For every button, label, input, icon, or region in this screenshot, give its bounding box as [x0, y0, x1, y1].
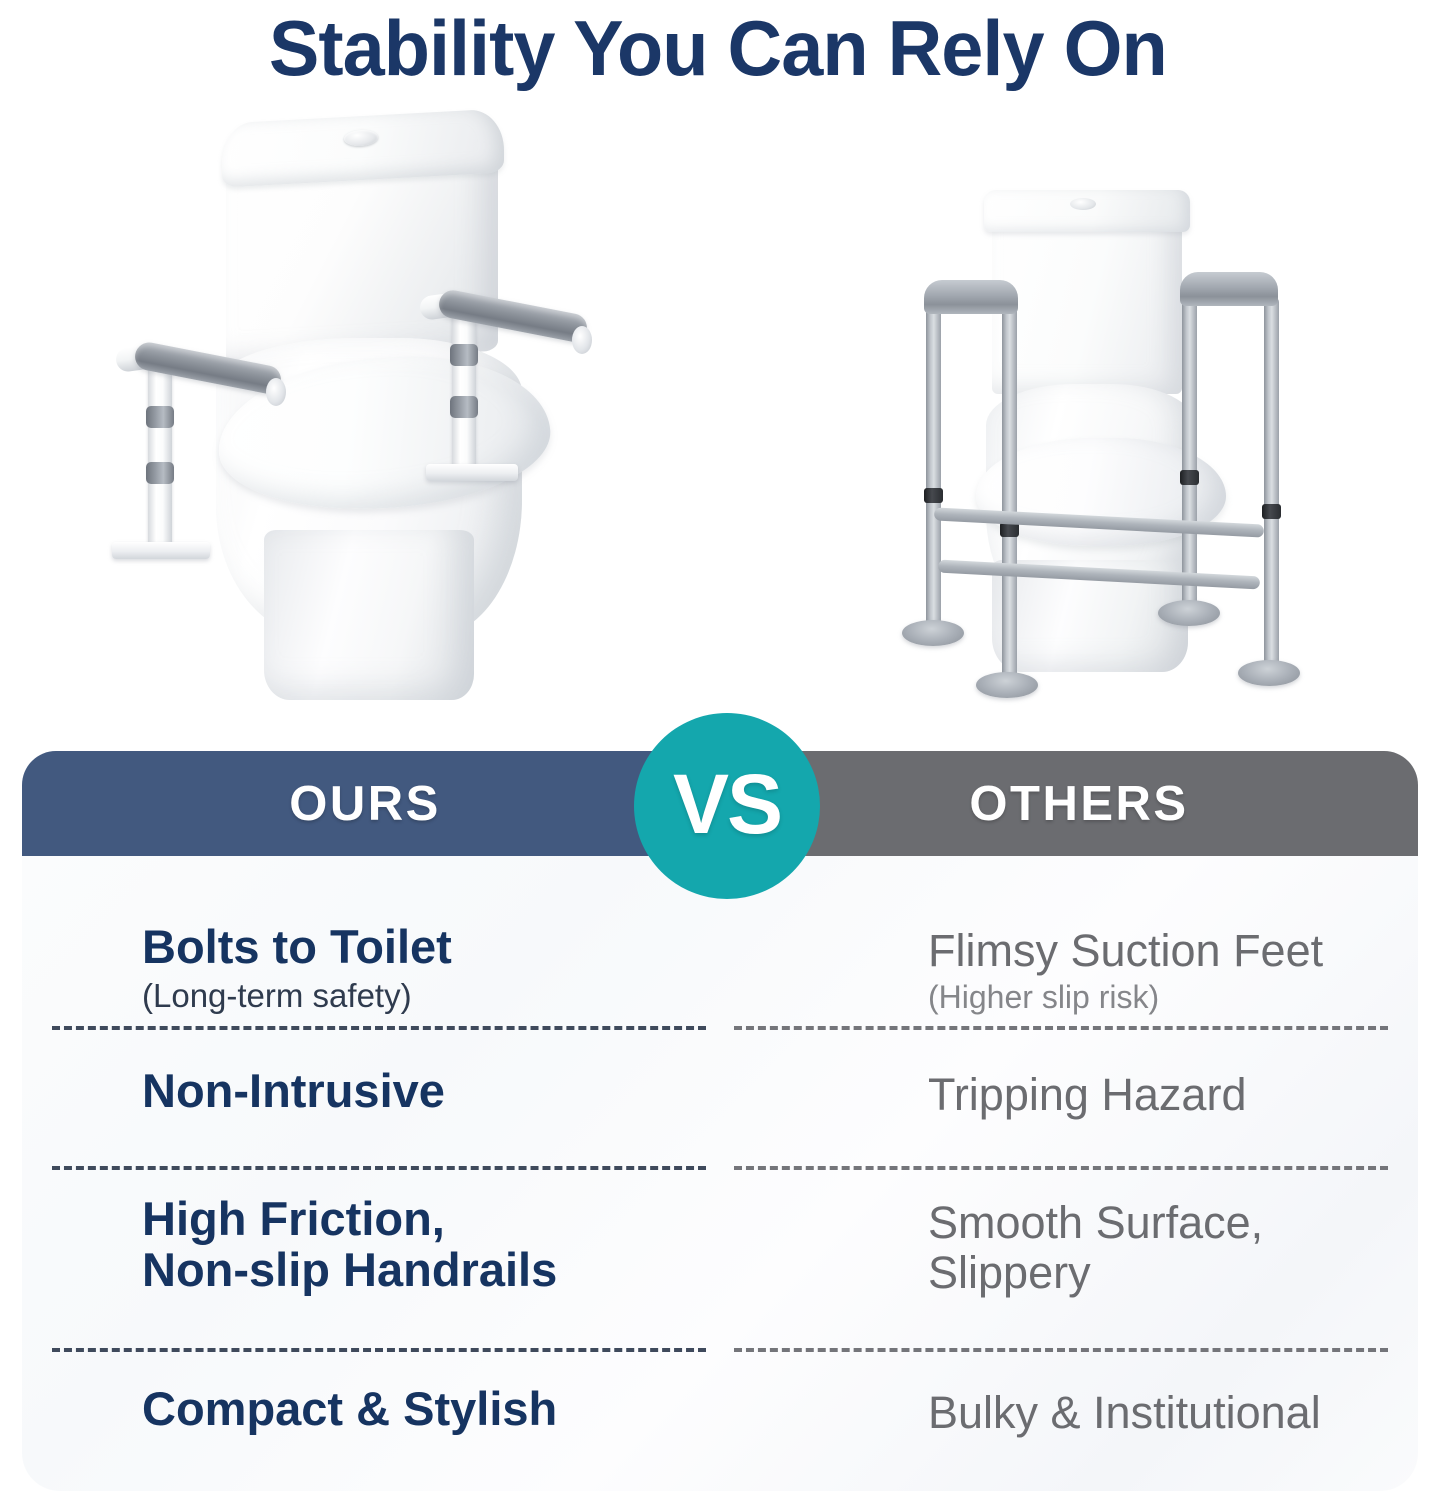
comparison-body: Bolts to Toilet (Long-term safety) Flims… [22, 856, 1418, 1491]
ours-product-image [96, 110, 636, 740]
competitor-toilet-tank-lid [984, 190, 1190, 232]
row-3-others-cell: Smooth Surface, Slippery [720, 1166, 1418, 1348]
ours-header: OURS [22, 751, 720, 856]
frame-leg [1002, 306, 1017, 682]
rail-collar [146, 406, 174, 428]
rail-handle-cap [266, 378, 286, 406]
comparison-row: Non-Intrusive Tripping Hazard [22, 1026, 1418, 1166]
product-image-stage [0, 96, 1436, 751]
row-2-ours-label: Non-Intrusive [142, 1066, 445, 1117]
row-1-ours-sublabel: (Long-term safety) [142, 977, 452, 1015]
rail-post [452, 308, 476, 470]
row-3-others-label-line2: Slippery [928, 1248, 1263, 1298]
row-3-ours-label: High Friction, [142, 1194, 557, 1245]
row-4-ours-label: Compact & Stylish [142, 1384, 557, 1435]
comparison-row: Compact & Stylish Bulky & Institutional [22, 1348, 1418, 1468]
rail-collar [450, 344, 478, 366]
frame-armrest-right [1180, 272, 1278, 306]
row-3-ours-label-line2: Non-slip Handrails [142, 1245, 557, 1296]
row-1-others-cell: Flimsy Suction Feet (Higher slip risk) [720, 856, 1418, 1026]
competitor-flush-button-icon [1070, 198, 1096, 210]
rail-post [148, 362, 172, 548]
frame-leg [926, 298, 941, 628]
row-3-ours-cell: High Friction, Non-slip Handrails [22, 1166, 720, 1348]
frame-clamp-band [924, 488, 943, 503]
row-2-others-cell: Tripping Hazard [720, 1026, 1418, 1166]
rail-base-plate [426, 464, 518, 481]
row-4-others-cell: Bulky & Institutional [720, 1348, 1418, 1468]
row-2-ours-cell: Non-Intrusive [22, 1026, 720, 1166]
comparison-row: High Friction, Non-slip Handrails Smooth… [22, 1166, 1418, 1348]
rail-collar [450, 396, 478, 418]
rail-collar [146, 462, 174, 484]
frame-suction-foot [1158, 600, 1220, 626]
page-title-bar: Stability You Can Rely On [0, 0, 1436, 96]
frame-clamp-band [1262, 504, 1281, 519]
frame-suction-foot [976, 672, 1038, 698]
frame-suction-foot [1238, 660, 1300, 686]
others-header: OTHERS [720, 751, 1418, 856]
frame-leg [1182, 290, 1197, 608]
ours-header-label: OURS [289, 776, 441, 832]
others-product-image [880, 180, 1350, 740]
toilet-pedestal [264, 530, 474, 700]
row-3-others-label: Smooth Surface, [928, 1198, 1263, 1248]
row-2-others-label: Tripping Hazard [928, 1070, 1246, 1120]
competitor-toilet-tank [992, 204, 1182, 394]
comparison-card: OURS OTHERS VS Bolts to Toilet (Long-ter… [22, 751, 1418, 1491]
vs-label: VS [673, 756, 781, 853]
row-1-ours-label: Bolts to Toilet [142, 922, 452, 973]
frame-leg [1264, 298, 1279, 670]
row-1-ours-cell: Bolts to Toilet (Long-term safety) [22, 856, 720, 1026]
frame-suction-foot [902, 620, 964, 646]
frame-armrest-left [924, 280, 1018, 314]
rail-handle-cap [572, 326, 592, 354]
row-4-ours-cell: Compact & Stylish [22, 1348, 720, 1468]
row-4-others-label: Bulky & Institutional [928, 1388, 1321, 1438]
frame-clamp-band [1180, 470, 1199, 485]
page-title: Stability You Can Rely On [269, 9, 1167, 87]
row-1-others-sublabel: (Higher slip risk) [928, 979, 1323, 1016]
others-header-label: OTHERS [969, 776, 1188, 832]
vs-badge: VS [634, 713, 820, 899]
row-1-others-label: Flimsy Suction Feet [928, 926, 1323, 976]
rail-base-plate [112, 542, 210, 559]
comparison-rows: Bolts to Toilet (Long-term safety) Flims… [22, 856, 1418, 1468]
